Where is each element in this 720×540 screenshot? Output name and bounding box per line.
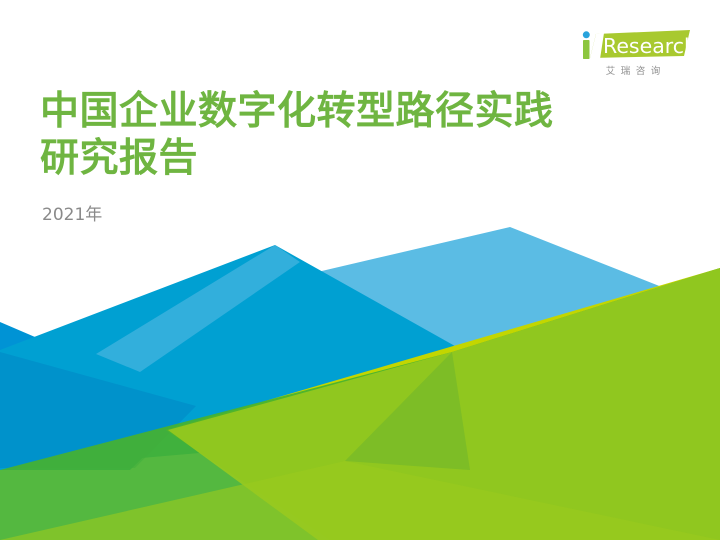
logo-chinese-name: 艾瑞咨询 — [574, 65, 692, 78]
page-title-line-1: 中国企业数字化转型路径实践 — [40, 89, 554, 134]
report-cover: Research 艾瑞咨询 中国企业数字化转型路径实践 研究报告 2021年 — [0, 0, 720, 540]
page-title-line-2: 研究报告 — [40, 136, 198, 181]
title-block: 中国企业数字化转型路径实践 研究报告 2021年 — [40, 88, 650, 226]
logo-letter-i-dot-icon — [583, 31, 590, 38]
logo-wordmark-text: Research — [603, 34, 692, 58]
page-title: 中国企业数字化转型路径实践 研究报告 — [40, 88, 650, 182]
background-geometric-artwork — [0, 0, 720, 540]
iresearch-logo: Research 艾瑞咨询 — [574, 28, 692, 78]
logo-mark: Research — [574, 28, 692, 62]
logo-letter-i-stem — [583, 40, 590, 59]
logo-wordmark-graphic: Research — [574, 28, 692, 62]
page-subtitle-year: 2021年 — [42, 204, 650, 226]
